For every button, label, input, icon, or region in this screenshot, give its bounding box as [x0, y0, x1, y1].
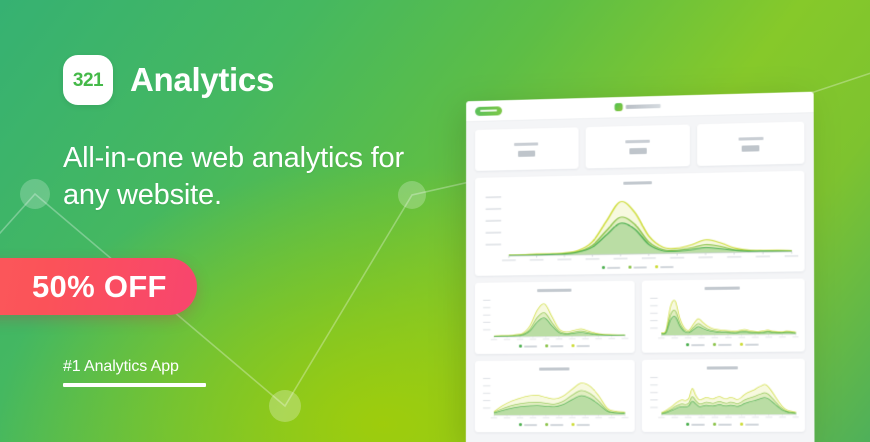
- legend-item: [545, 344, 563, 347]
- award-underline: [63, 383, 206, 387]
- legend-item: [545, 423, 563, 426]
- stat-card[interactable]: [475, 127, 578, 171]
- stat-label: [514, 142, 538, 146]
- chart-legend: [647, 342, 798, 346]
- rounded-square-logo-icon: 321: [63, 55, 113, 105]
- legend-item: [628, 265, 646, 268]
- stat-label: [625, 139, 650, 143]
- award-block: #1 Analytics App: [63, 358, 206, 387]
- menu-pill-button[interactable]: [475, 106, 502, 116]
- chart-row-bottom: [475, 359, 805, 433]
- chart-plot: [647, 373, 798, 421]
- legend-item: [686, 343, 705, 346]
- chart-title: [623, 181, 652, 185]
- banner-left-column: 321 Analytics All-in-one web analytics f…: [0, 0, 460, 442]
- chart-card-overview[interactable]: [475, 171, 805, 276]
- brand-wordmark: Analytics: [130, 61, 274, 99]
- stat-label: [738, 136, 763, 140]
- dashboard-brand: [615, 102, 661, 111]
- chart-row-middle: [475, 279, 805, 354]
- chart-plot: [481, 374, 628, 421]
- dashboard-logo-icon: [615, 103, 623, 111]
- legend-item: [519, 344, 537, 347]
- stat-value: [629, 147, 646, 153]
- chart-card-traffic-over-time[interactable]: [641, 359, 805, 432]
- award-label: #1 Analytics App: [63, 358, 206, 376]
- legend-item: [571, 423, 589, 426]
- legend-item: [655, 265, 674, 268]
- legend-item: [740, 343, 759, 346]
- legend-item: [686, 423, 705, 426]
- legend-item: [713, 343, 732, 346]
- logo-mark-text: 321: [73, 71, 103, 90]
- chart-title: [707, 366, 738, 369]
- chart-plot: [481, 185, 798, 266]
- legend-item: [740, 423, 759, 426]
- discount-badge: 50% OFF: [0, 258, 197, 315]
- brand-logo: 321 Analytics: [63, 55, 274, 105]
- legend-item: [519, 423, 537, 426]
- stat-value: [742, 145, 760, 152]
- chart-legend: [481, 423, 628, 426]
- legend-item: [602, 266, 620, 269]
- legend-item: [571, 344, 589, 347]
- chart-card-pageviews-weekly[interactable]: [475, 360, 634, 432]
- chart-plot: [647, 293, 798, 342]
- chart-title: [539, 367, 569, 370]
- chart-plot: [481, 295, 628, 343]
- chart-title: [537, 289, 571, 292]
- promo-banner: 321 Analytics All-in-one web analytics f…: [0, 0, 870, 442]
- dashboard-mockup: [466, 92, 815, 442]
- stat-card[interactable]: [585, 125, 690, 169]
- chart-card-sessions-by-source[interactable]: [475, 281, 634, 354]
- stat-card[interactable]: [697, 122, 804, 166]
- chart-card-visitors-by-country[interactable]: [641, 279, 805, 353]
- stat-card-row: [475, 122, 804, 171]
- dashboard-brand-label: [626, 104, 661, 109]
- discount-badge-label: 50% OFF: [32, 269, 167, 305]
- stat-value: [518, 150, 535, 156]
- page-title: All-in-one web analytics for any website…: [63, 140, 423, 214]
- dashboard-body: [466, 113, 815, 441]
- chart-legend: [481, 344, 628, 348]
- chart-title: [705, 287, 740, 291]
- chart-legend: [648, 422, 799, 425]
- legend-item: [713, 423, 732, 426]
